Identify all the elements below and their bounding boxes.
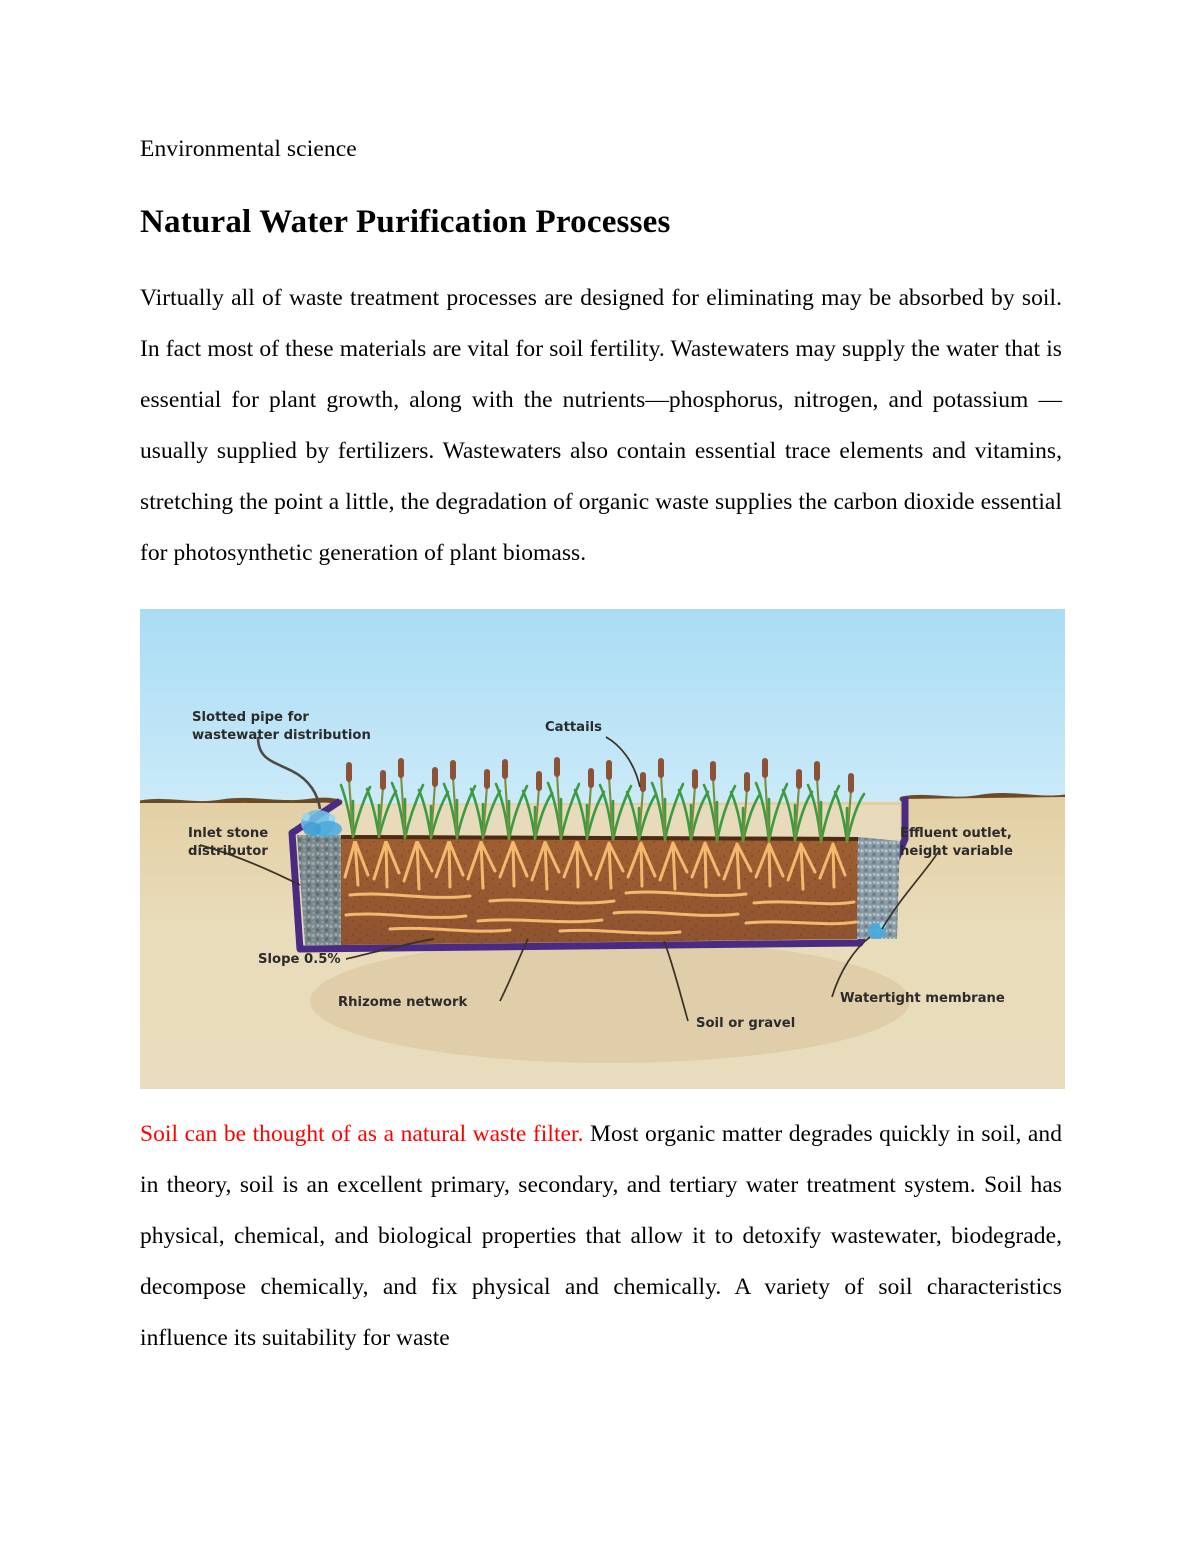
document-page: Environmental science Natural Water Puri…: [0, 0, 1200, 1553]
label-effluent-line1: Effluent outlet,: [900, 826, 1012, 841]
body-paragraph-1: Virtually all of waste treatment process…: [140, 240, 1062, 579]
label-slotted-pipe-line2: wastewater distribution: [192, 728, 371, 743]
document-content: Environmental science Natural Water Puri…: [140, 0, 1062, 1364]
wetland-cross-section-svg: Slotted pipe for wastewater distribution…: [140, 609, 1065, 1089]
label-watertight-membrane: Watertight membrane: [840, 991, 1005, 1006]
body-paragraph-2-rest: Most organic matter degrades quickly in …: [140, 1121, 1062, 1351]
page-title: Natural Water Purification Processes: [140, 162, 1062, 240]
document-kicker: Environmental science: [140, 138, 1062, 162]
label-effluent-line2: height variable: [900, 844, 1013, 859]
soil-surface-line: [341, 837, 858, 839]
body-paragraph-2: Soil can be thought of as a natural wast…: [140, 1089, 1062, 1364]
label-slotted-pipe-line1: Slotted pipe for: [192, 710, 309, 725]
wetland-diagram-figure: Slotted pipe for wastewater distribution…: [140, 609, 1065, 1089]
wetland-diagram: Slotted pipe for wastewater distribution…: [140, 609, 1065, 1089]
label-rhizome-network: Rhizome network: [338, 995, 468, 1010]
label-inlet-line2: distributor: [188, 844, 268, 859]
label-inlet-line1: Inlet stone: [188, 826, 268, 841]
label-cattails: Cattails: [545, 720, 602, 735]
label-soil-or-gravel: Soil or gravel: [696, 1016, 795, 1031]
label-slope: Slope 0.5%: [258, 952, 341, 967]
highlighted-sentence: Soil can be thought of as a natural wast…: [140, 1121, 584, 1147]
